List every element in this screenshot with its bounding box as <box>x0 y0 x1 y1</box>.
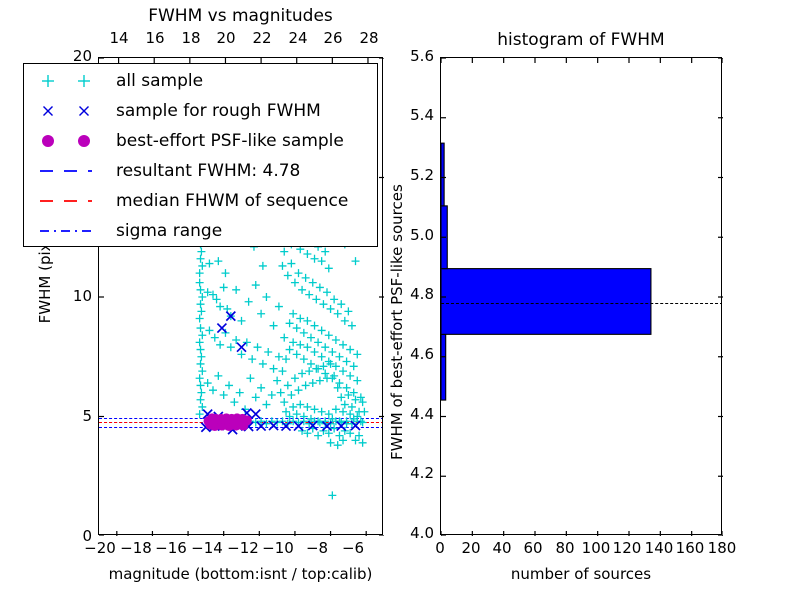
hist-xtick-0: 0 <box>425 539 455 557</box>
dashed-line-icon-red <box>30 186 116 216</box>
histogram-plot-area <box>441 58 721 534</box>
top-tick-18: 18 <box>176 29 206 47</box>
right-plot-xlabel: number of sources <box>440 565 722 583</box>
hist-xtick-40: 40 <box>487 539 517 557</box>
legend-label-sigma-range: sigma range <box>116 221 222 241</box>
histogram-bars <box>441 58 721 534</box>
legend-item-all-sample[interactable]: all sample <box>30 66 377 96</box>
top-tick-16: 16 <box>140 29 170 47</box>
hist-ytick-4-2: 4.2 <box>392 464 434 482</box>
legend-label-resultant-fwhm: resultant FWHM: 4.78 <box>116 161 300 181</box>
ytick-10: 10 <box>58 287 92 305</box>
xtick-m12: −12 <box>223 539 263 557</box>
hist-resultant-fwhm-line <box>441 303 721 304</box>
hist-xtick-180: 180 <box>703 539 741 557</box>
hist-xtick-20: 20 <box>456 539 486 557</box>
xtick-m18: −18 <box>116 539 156 557</box>
hist-xtick-60: 60 <box>518 539 548 557</box>
legend-label-all-sample: all sample <box>116 71 203 91</box>
xtick-m20: −20 <box>80 539 120 557</box>
hist-xtick-80: 80 <box>550 539 580 557</box>
top-tick-20: 20 <box>211 29 241 47</box>
right-plot-axes[interactable] <box>440 57 722 535</box>
ytick-5: 5 <box>58 407 92 425</box>
legend-item-psf-like[interactable]: best-effort PSF-like sample <box>30 126 377 156</box>
xtick-m10: −10 <box>258 539 298 557</box>
legend-item-resultant-fwhm[interactable]: resultant FWHM: 4.78 <box>30 156 377 186</box>
top-tick-28: 28 <box>354 29 384 47</box>
right-plot-title: histogram of FWHM <box>440 30 722 50</box>
cross-icon <box>30 96 116 126</box>
legend-item-median-fhwm[interactable]: median FHWM of sequence <box>30 186 377 216</box>
right-plot-ylabel: FWHM of best-effort PSF-like sources <box>388 60 406 460</box>
circle-icon <box>30 126 116 156</box>
top-tick-26: 26 <box>318 29 348 47</box>
legend-label-rough-fwhm: sample for rough FWHM <box>116 101 321 121</box>
top-tick-22: 22 <box>247 29 277 47</box>
legend-item-rough-fwhm[interactable]: sample for rough FWHM <box>30 96 377 126</box>
legend-label-psf-like: best-effort PSF-like sample <box>116 131 344 151</box>
xtick-m14: −14 <box>187 539 227 557</box>
figure-canvas: FWHM vs magnitudes 14 16 18 20 22 24 26 … <box>0 0 800 600</box>
xtick-m6: −6 <box>333 539 373 557</box>
dashed-line-icon-blue <box>30 156 116 186</box>
plus-icon <box>30 66 116 96</box>
dashdot-line-icon <box>30 216 116 246</box>
plot-legend[interactable]: all sample sample for rough FWHM b <box>23 63 378 247</box>
left-plot-title: FWHM vs magnitudes <box>98 6 383 26</box>
legend-label-median-fhwm: median FHWM of sequence <box>116 191 348 211</box>
top-tick-14: 14 <box>104 29 134 47</box>
top-tick-24: 24 <box>283 29 313 47</box>
legend-item-sigma-range[interactable]: sigma range <box>30 216 377 246</box>
left-plot-xlabel: magnitude (bottom:isnt / top:calib) <box>98 565 383 583</box>
xtick-m16: −16 <box>151 539 191 557</box>
xtick-m8: −8 <box>297 539 337 557</box>
